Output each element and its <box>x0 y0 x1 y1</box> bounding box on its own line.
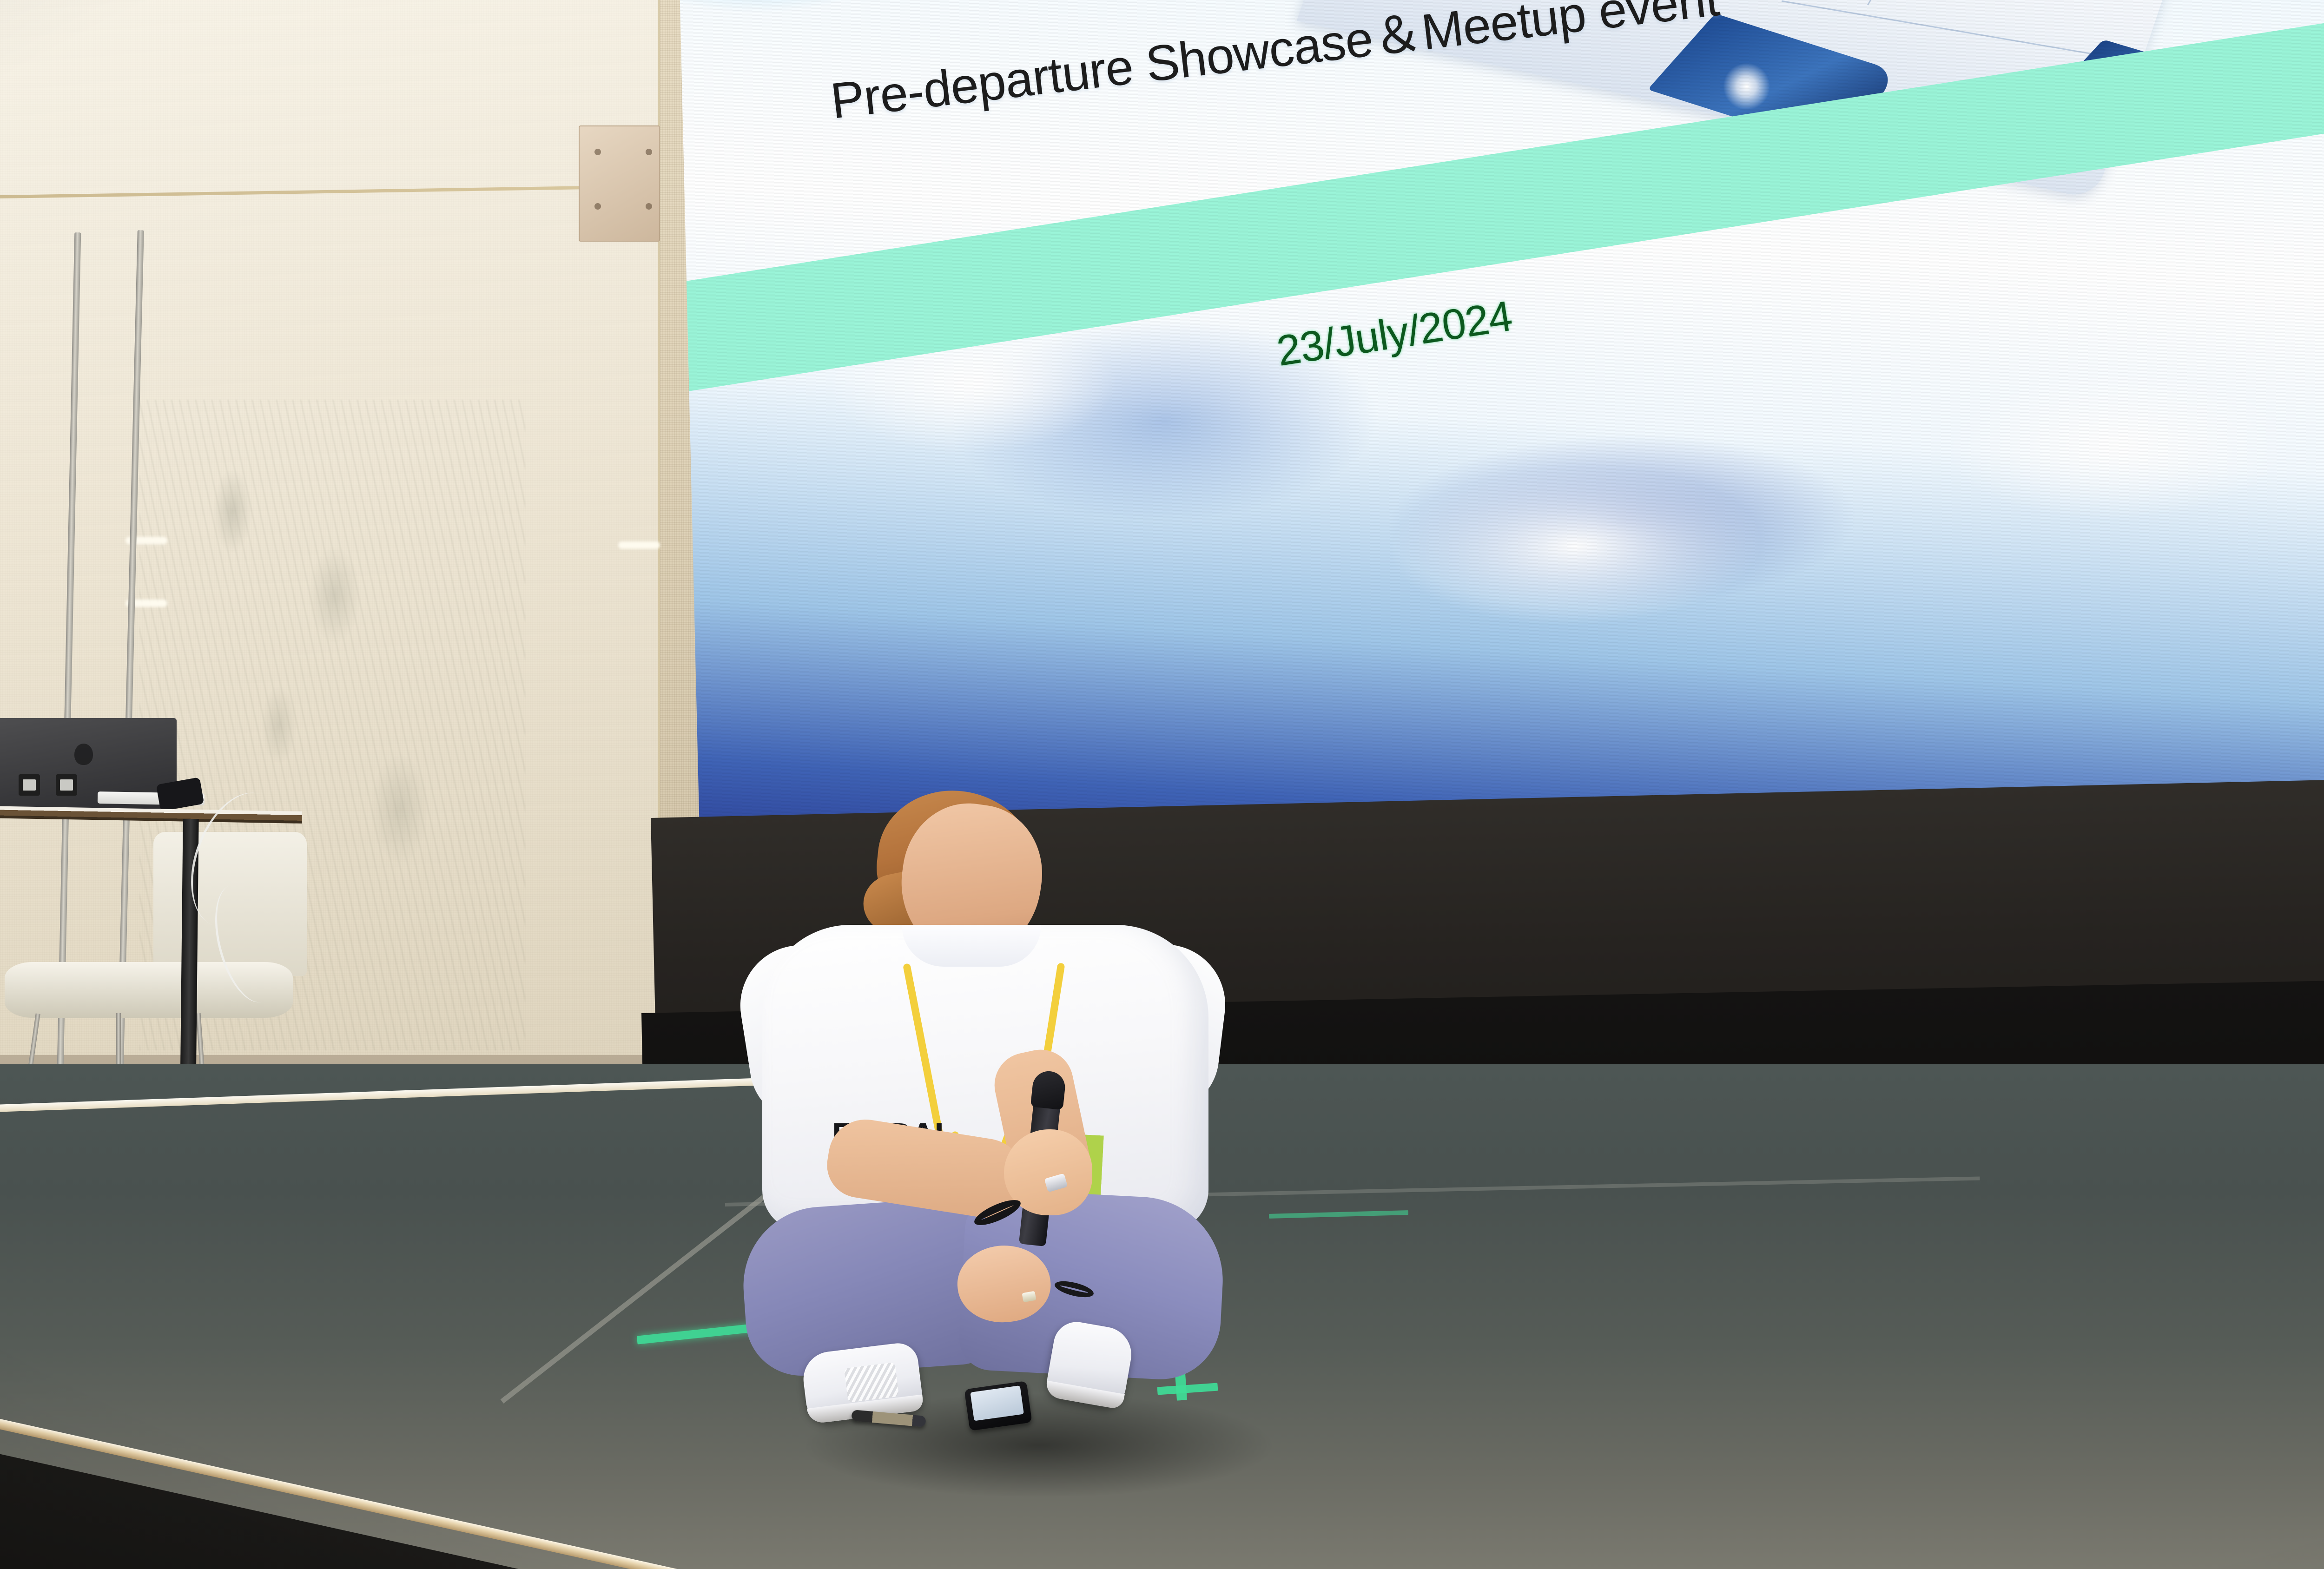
glass-seam <box>0 185 660 198</box>
phone-screen <box>970 1385 1024 1421</box>
stage-photo-scene: Be a gl Pre-departure Showcase＆Meetup ev… <box>0 0 2324 1569</box>
wing-panel-line <box>1782 0 2105 57</box>
main-led-screen: Be a gl Pre-departure Showcase＆Meetup ev… <box>676 0 2324 852</box>
apple-logo-icon <box>74 744 93 765</box>
wing-panel-line <box>1867 0 1919 5</box>
power-adapter <box>19 774 40 796</box>
seated-presenter: EN BAL ってよかった、と言える舞台だ。 <box>762 809 1255 1404</box>
glass-glint <box>618 541 660 549</box>
power-adapter <box>56 774 77 796</box>
shoe-laces <box>844 1362 899 1403</box>
glass-bracket <box>579 125 660 242</box>
smartphone-on-floor[interactable] <box>964 1381 1032 1431</box>
shirt-collar <box>902 925 1041 967</box>
